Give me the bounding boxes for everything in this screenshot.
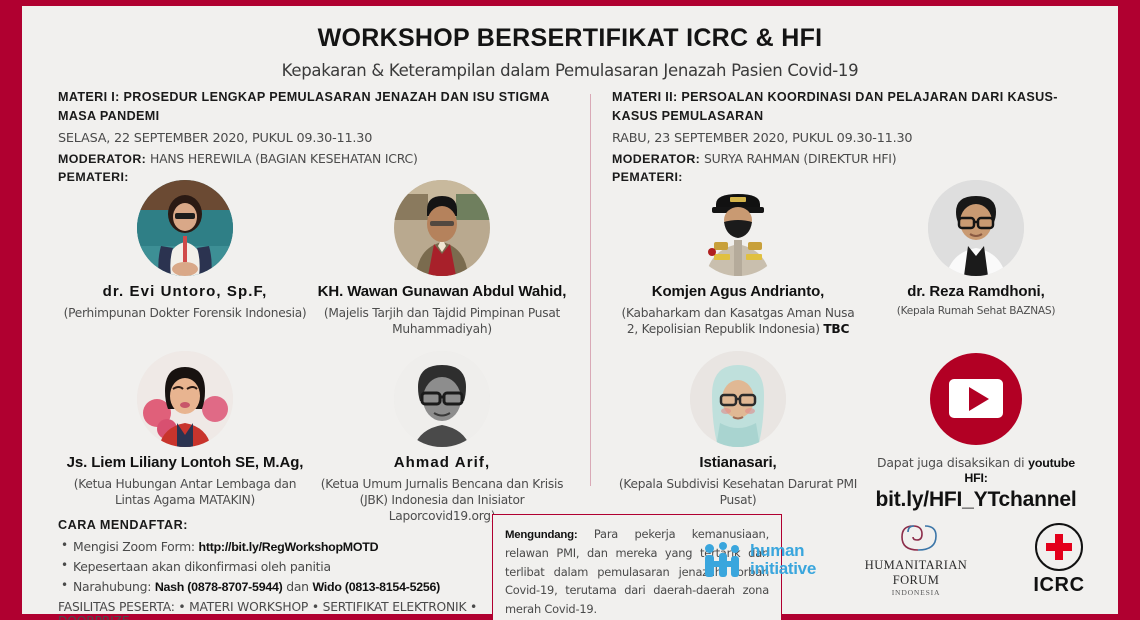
humanitarian-forum-line1: HUMANITARIAN bbox=[856, 558, 976, 573]
speaker-reza-ramdhoni: dr. Reza Ramdhoni, (Kepala Rumah Sehat B… bbox=[864, 180, 1088, 337]
avatar bbox=[928, 180, 1024, 276]
session-1-date: SELASA, 22 SEPTEMBER 2020, PUKUL 09.30-1… bbox=[58, 131, 572, 146]
youtube-caption-prefix: Dapat juga disaksikan di bbox=[877, 455, 1028, 470]
session-1-moderator-label: MODERATOR: bbox=[58, 152, 146, 166]
portrait-evi-untoro bbox=[137, 180, 233, 276]
session-1-speaker-row-1: dr. Evi Untoro, Sp.F, (Perhimpunan Dokte… bbox=[58, 180, 572, 337]
portrait-wawan-gunawan bbox=[394, 180, 490, 276]
youtube-caption: Dapat juga disaksikan di youtube HFI: bbox=[868, 455, 1084, 485]
humanitarian-forum-line3: INDONESIA bbox=[856, 588, 976, 597]
speaker-istianasari: Istianasari, (Kepala Subdivisi Kesehatan… bbox=[612, 351, 864, 512]
session-1-speaker-row-2: Js. Liem Liliany Lontoh SE, M.Ag, (Ketua… bbox=[58, 351, 572, 524]
icrc-wordmark: ICRC bbox=[1016, 574, 1102, 597]
session-materi-1: MATERI I: PROSEDUR LENGKAP PEMULASARAN J… bbox=[22, 88, 590, 498]
humanitarian-forum-line2: FORUM bbox=[856, 573, 976, 588]
red-cross-seal-icon bbox=[1035, 523, 1083, 571]
page-title: WORKSHOP BERSERTIFIKAT ICRC & HFI bbox=[22, 24, 1118, 53]
portrait-liem-liliany bbox=[137, 351, 233, 447]
speaker-ahmad-arif: Ahmad Arif, (Ketua Umum Jurnalis Bencana… bbox=[312, 351, 572, 524]
session-2-title: MATERI II: PERSOALAN KOORDINASI DAN PELA… bbox=[612, 88, 1088, 126]
contact-nash: Nash (0878-8707-5944) bbox=[155, 580, 283, 594]
youtube-block: Dapat juga disaksikan di youtube HFI: bi… bbox=[864, 351, 1088, 512]
avatar bbox=[394, 180, 490, 276]
partner-logos: human initiative HUMANITARIAN FORUM INDO… bbox=[703, 522, 1102, 597]
youtube-play-icon[interactable] bbox=[930, 353, 1022, 445]
speaker-name: Istianasari, bbox=[616, 454, 860, 472]
portrait-agus-andrianto bbox=[690, 180, 786, 276]
facilities-text: FASILITAS PESERTA: • MATERI WORKSHOP • S… bbox=[58, 600, 488, 620]
speaker-affiliation: (Kabaharkam dan Kasatgas Aman Nusa 2, Ke… bbox=[616, 305, 860, 337]
session-2-speaker-row-1: Komjen Agus Andrianto, (Kabaharkam dan K… bbox=[612, 180, 1088, 337]
humanitarian-forum-logo: HUMANITARIAN FORUM INDONESIA bbox=[856, 522, 976, 597]
humanitarian-forum-swirl-icon bbox=[888, 522, 944, 552]
sessions-container: MATERI I: PROSEDUR LENGKAP PEMULASARAN J… bbox=[22, 88, 1118, 498]
human-initiative-line2: initiative bbox=[750, 560, 816, 577]
poster-header: WORKSHOP BERSERTIFIKAT ICRC & HFI Kepaka… bbox=[22, 6, 1118, 80]
registration-item-text: Kepesertaan akan dikonfirmasi oleh panit… bbox=[73, 559, 331, 574]
session-2-date: RABU, 23 SEPTEMBER 2020, PUKUL 09.30-11.… bbox=[612, 131, 1088, 146]
speaker-affiliation-tbc: TBC bbox=[823, 322, 849, 336]
session-2-moderator-label: MODERATOR: bbox=[612, 152, 700, 166]
youtube-screen bbox=[949, 379, 1003, 418]
registration-block: CARA MENDAFTAR: Mengisi Zoom Form: http:… bbox=[58, 518, 488, 620]
session-1-moderator: MODERATOR: HANS HEREWILA (BAGIAN KESEHAT… bbox=[58, 151, 572, 166]
invitation-label: Mengundang: bbox=[505, 529, 577, 541]
avatar bbox=[690, 351, 786, 447]
speaker-affiliation: (Kepala Rumah Sehat BAZNAS) bbox=[868, 305, 1084, 319]
avatar bbox=[137, 180, 233, 276]
portrait-reza-ramdhoni bbox=[928, 180, 1024, 276]
registration-item-text: Narahubung: bbox=[73, 579, 155, 594]
human-initiative-mark-icon bbox=[703, 542, 743, 578]
portrait-ahmad-arif bbox=[394, 351, 490, 447]
session-1-title: MATERI I: PROSEDUR LENGKAP PEMULASARAN J… bbox=[58, 88, 572, 126]
registration-item: Mengisi Zoom Form: http://bit.ly/RegWork… bbox=[58, 537, 488, 557]
speaker-agus-andrianto: Komjen Agus Andrianto, (Kabaharkam dan K… bbox=[612, 180, 864, 337]
registration-title: CARA MENDAFTAR: bbox=[58, 518, 488, 532]
human-initiative-logo: human initiative bbox=[703, 542, 816, 578]
speaker-affiliation: (Perhimpunan Dokter Forensik Indonesia) bbox=[62, 305, 308, 321]
speaker-name: Komjen Agus Andrianto, bbox=[616, 283, 860, 301]
poster-root: WORKSHOP BERSERTIFIKAT ICRC & HFI Kepaka… bbox=[0, 0, 1140, 620]
speaker-liem-liliany: Js. Liem Liliany Lontoh SE, M.Ag, (Ketua… bbox=[58, 351, 312, 524]
session-2-moderator-name: SURYA RAHMAN (DIREKTUR HFI) bbox=[704, 151, 896, 166]
session-1-moderator-name: HANS HEREWILA (BAGIAN KESEHATAN ICRC) bbox=[150, 151, 418, 166]
play-triangle-icon bbox=[969, 387, 989, 411]
speaker-affiliation: (Majelis Tarjih dan Tajdid Pimpinan Pusa… bbox=[316, 305, 568, 337]
registration-item-text: Mengisi Zoom Form: bbox=[73, 539, 199, 554]
human-initiative-wordmark: human initiative bbox=[750, 542, 816, 577]
speaker-name: Ahmad Arif, bbox=[316, 454, 568, 472]
speaker-name: Js. Liem Liliany Lontoh SE, M.Ag, bbox=[62, 454, 308, 472]
portrait-istianasari bbox=[690, 351, 786, 447]
avatar bbox=[137, 351, 233, 447]
registration-item: Narahubung: Nash (0878-8707-5944) dan Wi… bbox=[58, 577, 488, 597]
poster-canvas: WORKSHOP BERSERTIFIKAT ICRC & HFI Kepaka… bbox=[22, 6, 1118, 614]
cross-horizontal bbox=[1046, 543, 1072, 551]
human-initiative-line1: human bbox=[750, 542, 816, 559]
speaker-wawan-gunawan: KH. Wawan Gunawan Abdul Wahid, (Majelis … bbox=[312, 180, 572, 337]
speaker-affiliation-text: (Kabaharkam dan Kasatgas Aman Nusa 2, Ke… bbox=[622, 306, 855, 336]
avatar bbox=[690, 180, 786, 276]
speaker-name: KH. Wawan Gunawan Abdul Wahid, bbox=[316, 283, 568, 301]
speaker-name: dr. Reza Ramdhoni, bbox=[868, 283, 1084, 301]
session-2-speaker-row-2: Istianasari, (Kepala Subdivisi Kesehatan… bbox=[612, 351, 1088, 512]
contact-wido: Wido (0813-8154-5256) bbox=[312, 580, 440, 594]
poster-footer: CARA MENDAFTAR: Mengisi Zoom Form: http:… bbox=[22, 504, 1118, 614]
registration-link[interactable]: http://bit.ly/RegWorkshopMOTD bbox=[199, 540, 379, 554]
avatar bbox=[394, 351, 490, 447]
session-materi-2: MATERI II: PERSOALAN KOORDINASI DAN PELA… bbox=[590, 88, 1118, 498]
speaker-evi-untoro: dr. Evi Untoro, Sp.F, (Perhimpunan Dokte… bbox=[58, 180, 312, 337]
registration-item: Kepesertaan akan dikonfirmasi oleh panit… bbox=[58, 557, 488, 577]
page-subtitle: Kepakaran & Keterampilan dalam Pemulasar… bbox=[22, 61, 1118, 80]
session-2-moderator: MODERATOR: SURYA RAHMAN (DIREKTUR HFI) bbox=[612, 151, 1088, 166]
speaker-name: dr. Evi Untoro, Sp.F, bbox=[62, 283, 308, 301]
registration-conjunction: dan bbox=[283, 579, 313, 594]
icrc-logo: ICRC bbox=[1016, 523, 1102, 597]
